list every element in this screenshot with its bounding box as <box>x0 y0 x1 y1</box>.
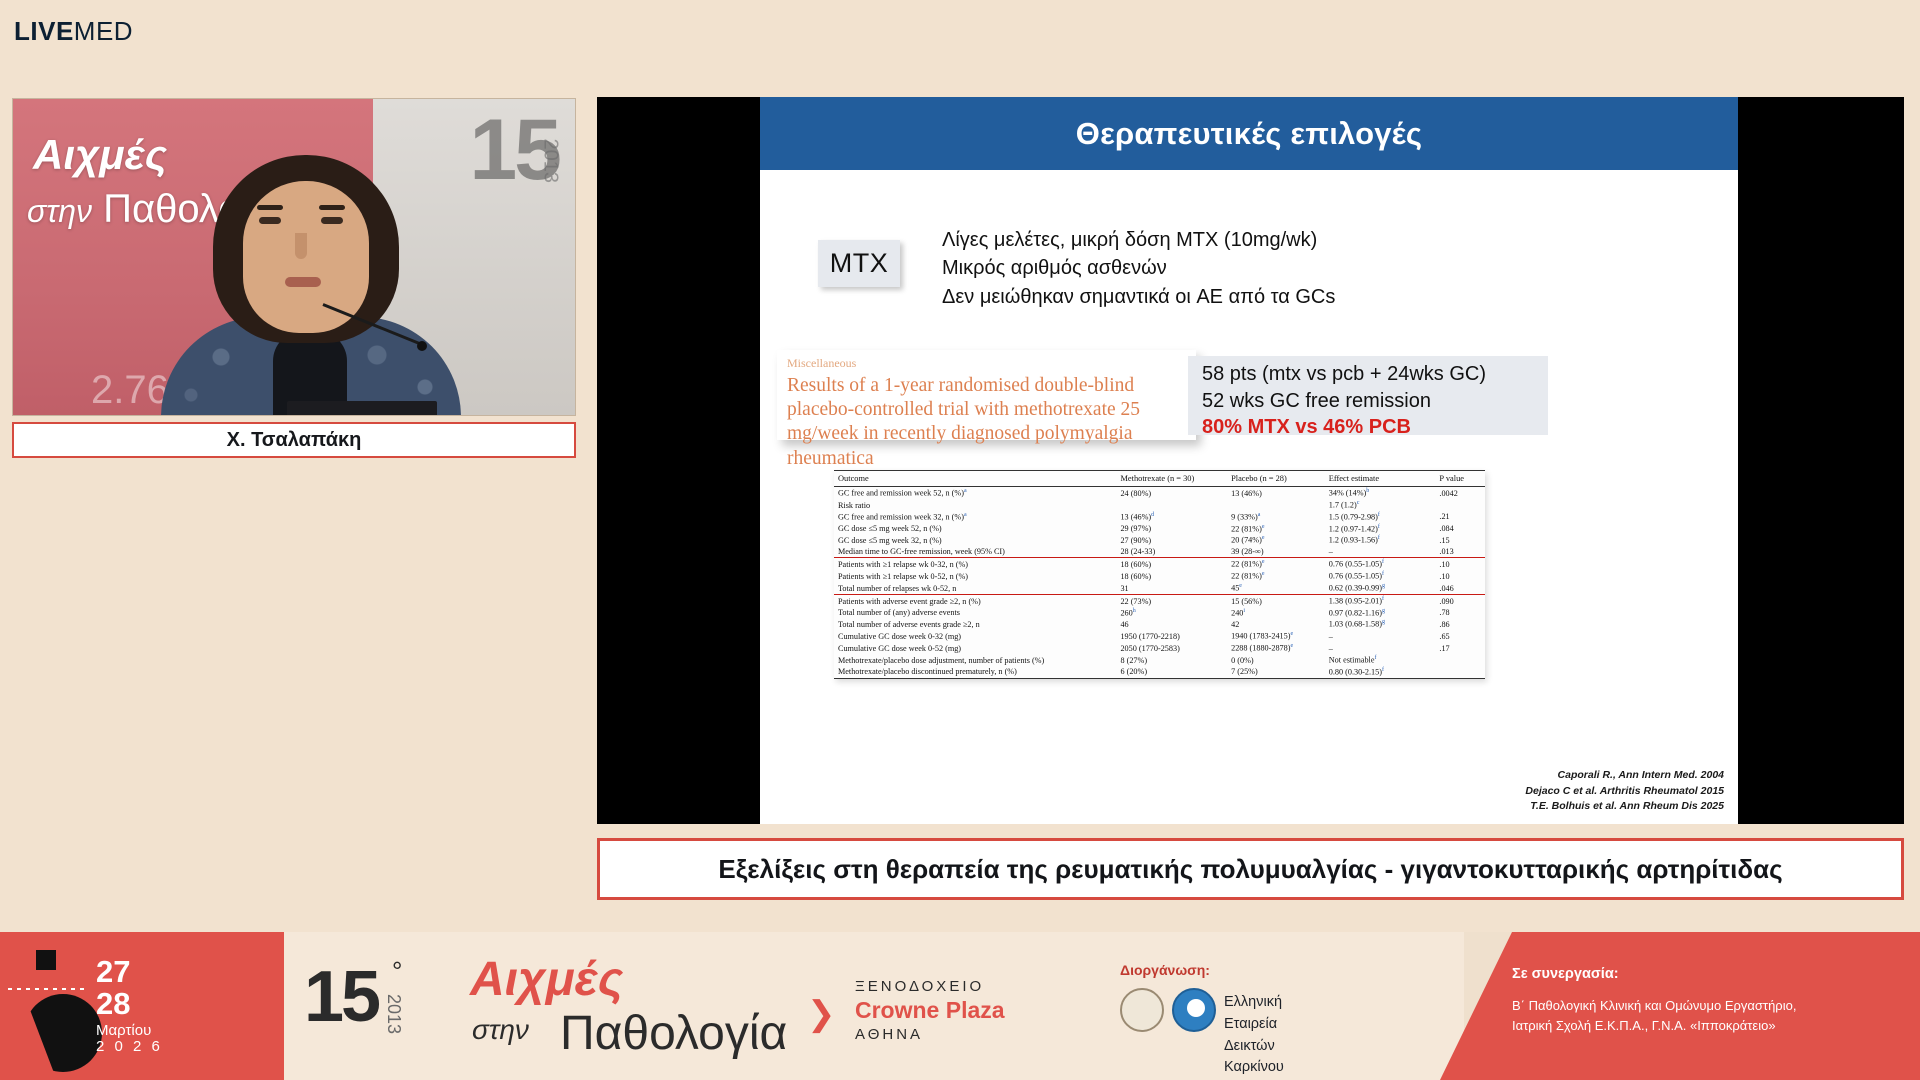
footnote-marker: e <box>1262 535 1265 541</box>
livemed-logo: LIVEMED <box>14 16 133 47</box>
slide-title: Θεραπευτικές επιλογές <box>1076 116 1422 152</box>
table-row: GC free and remission week 52, n (%)a24 … <box>834 487 1485 499</box>
table-row: Methotrexate/placebo dose adjustment, nu… <box>834 654 1485 666</box>
speaker-eye-right <box>321 217 343 224</box>
table-cell: 0.76 (0.55-1.05)f <box>1329 558 1440 570</box>
edition-degree-symbol: ° <box>392 956 402 987</box>
table-cell: 2288 (1880-2878)e <box>1231 642 1329 654</box>
video-overlay-title-1: Αιχμές <box>33 131 167 179</box>
footnote-marker: h <box>1133 608 1136 614</box>
table-row: GC dose ≤5 mg week 52, n (%)29 (97%)22 (… <box>834 522 1485 534</box>
table-cell <box>1439 654 1485 666</box>
citation-1: Caporali R., Ann Intern Med. 2004 <box>1525 768 1724 783</box>
edition-number: 15 <box>304 956 378 1038</box>
table-cell: 7 (25%) <box>1231 666 1329 678</box>
footnote-marker: f <box>1378 512 1380 518</box>
table-cell: 22 (81%)e <box>1231 558 1329 570</box>
organizer-block: Διοργάνωση: Ελληνική Εταιρεία Δεικτών Κα… <box>1120 962 1210 978</box>
table-cell: 31 <box>1120 582 1231 594</box>
footnote-marker: a <box>964 488 967 494</box>
footnote-marker: a <box>1258 512 1261 518</box>
mtx-chip-label: MTX <box>830 248 889 279</box>
footnote-marker: f <box>1382 559 1384 565</box>
table-cell: 15 (56%) <box>1231 594 1329 606</box>
footnote-marker: a <box>964 512 967 518</box>
footnote-marker: b <box>1366 488 1369 494</box>
footnote-marker: e <box>1239 583 1242 589</box>
table-row: Patients with ≥1 relapse wk 0-52, n (%)1… <box>834 570 1485 582</box>
footnote-marker: f <box>1382 667 1384 673</box>
organizer-text: Ελληνική Εταιρεία Δεικτών Καρκίνου & Στο… <box>1224 992 1305 1080</box>
venue-name: Crowne Plaza <box>855 997 1005 1024</box>
footnote-marker: e <box>1262 571 1265 577</box>
table-cell: – <box>1329 630 1440 642</box>
footnote-marker: f <box>1382 596 1384 602</box>
speaker-figure <box>161 155 461 416</box>
cooperation-line-2: Ιατρική Σχολή Ε.Κ.Π.Α., Γ.Ν.Α. «Ιπποκράτ… <box>1512 1016 1892 1036</box>
chevron-right-icon: ❯ <box>807 994 836 1034</box>
table-cell: Methotrexate/placebo discontinued premat… <box>834 666 1120 678</box>
table-row: Total number of relapses wk 0-52, n3145e… <box>834 582 1485 594</box>
table-cell: Patients with ≥1 relapse wk 0-52, n (%) <box>834 570 1120 582</box>
journal-excerpt-card: Miscellaneous Results of a 1-year random… <box>777 350 1196 440</box>
table-row: Patients with adverse event grade ≥2, n … <box>834 594 1485 606</box>
venue-city: ΑΘΗΝΑ <box>855 1026 1005 1043</box>
table-cell: .78 <box>1439 607 1485 619</box>
logo-live: LIVE <box>14 16 74 46</box>
table-row: Risk ratio1.7 (1.2)c <box>834 499 1485 511</box>
speaker-brow-left <box>257 205 283 210</box>
video-overlay-title-2-italic: στην <box>27 193 92 229</box>
table-cell: .013 <box>1439 546 1485 558</box>
table-cell: .046 <box>1439 582 1485 594</box>
table-cell: 1.2 (0.93-1.56)f <box>1329 534 1440 546</box>
organizer-line-1: Ελληνική Εταιρεία Δεικτών Καρκίνου <box>1224 992 1305 1079</box>
table-cell: Median time to GC-free remission, week (… <box>834 546 1120 558</box>
table-cell: 42 <box>1231 618 1329 630</box>
table-cell: Total number of (any) adverse events <box>834 607 1120 619</box>
cooperation-line-1: Β΄ Παθολογική Κλινική και Ομώνυμο Εργαστ… <box>1512 996 1892 1016</box>
speaker-eye-left <box>259 217 281 224</box>
footnote-marker: g <box>1382 583 1385 589</box>
table-cell: GC free and remission week 32, n (%)a <box>834 511 1120 523</box>
session-title-banner: Εξελίξεις στη θεραπεία της ρευματικής πο… <box>597 838 1904 900</box>
cooperation-block: Σε συνεργασία: Β΄ Παθολογική Κλινική και… <box>1512 966 1892 1036</box>
table-cell: 6 (20%) <box>1120 666 1231 678</box>
results-line-1: 58 pts (mtx vs pcb + 24wks GC) <box>1202 361 1534 388</box>
bullet-list: Λίγες μελέτες, μικρή δόση MTX (10mg/wk) … <box>942 226 1642 311</box>
table-cell: Cumulative GC dose week 0-52 (mg) <box>834 642 1120 654</box>
table-body: GC free and remission week 52, n (%)a24 … <box>834 487 1485 679</box>
column-header-methotrexate: Methotrexate (n = 30) <box>1120 471 1231 487</box>
speaker-video[interactable]: 15 2013 Αιχμές στην Παθολο 2.76 <box>12 98 576 416</box>
table-cell: 240i <box>1231 607 1329 619</box>
table-cell: 34% (14%)b <box>1329 487 1440 499</box>
mtx-chip: MTX <box>818 240 900 287</box>
results-line-2: 52 wks GC free remission <box>1202 388 1534 415</box>
session-title: Εξελίξεις στη θεραπεία της ρευματικής πο… <box>718 854 1782 885</box>
event-year: 2 0 2 6 <box>96 1039 163 1054</box>
table-cell: .10 <box>1439 570 1485 582</box>
table-cell: 13 (46%)d <box>1120 511 1231 523</box>
table-header-row: Outcome Methotrexate (n = 30) Placebo (n… <box>834 471 1485 487</box>
table-cell: 45e <box>1231 582 1329 594</box>
table-cell: .0042 <box>1439 487 1485 499</box>
bullet-item-2: Μικρός αριθμός ασθενών <box>942 254 1642 282</box>
table-row: GC free and remission week 32, n (%)a13 … <box>834 511 1485 523</box>
footnote-marker: g <box>1382 619 1385 625</box>
table-cell: 0.80 (0.30-2.15)f <box>1329 666 1440 678</box>
brand-line-2-italic: στην <box>472 1014 529 1046</box>
table-cell: 18 (60%) <box>1120 558 1231 570</box>
trial-results-table: Outcome Methotrexate (n = 30) Placebo (n… <box>834 470 1485 679</box>
speaker-panel: 15 2013 Αιχμές στην Παθολο 2.76 <box>12 98 576 458</box>
table-cell <box>1120 499 1231 511</box>
citation-3: T.E. Bolhuis et al. Ann Rheum Dis 2025 <box>1525 799 1724 814</box>
table-cell: GC free and remission week 52, n (%)a <box>834 487 1120 499</box>
footer-square-motif <box>36 950 56 970</box>
table-cell: 1.38 (0.95-2.01)f <box>1329 594 1440 606</box>
table-cell: 1.2 (0.97-1.42)f <box>1329 522 1440 534</box>
table-cell: 8 (27%) <box>1120 654 1231 666</box>
footnote-marker: f <box>1378 524 1380 530</box>
society-logo-icon <box>1172 988 1216 1032</box>
journal-section-label: Miscellaneous <box>787 356 1186 371</box>
table-cell: .65 <box>1439 630 1485 642</box>
results-summary-panel: 58 pts (mtx vs pcb + 24wks GC) 52 wks GC… <box>1188 356 1548 435</box>
table-row: Methotrexate/placebo discontinued premat… <box>834 666 1485 678</box>
microphone-head-icon <box>417 341 427 351</box>
footnote-marker: e <box>1290 643 1293 649</box>
table-cell: 28 (24-33) <box>1120 546 1231 558</box>
table-cell: 29 (97%) <box>1120 522 1231 534</box>
table-cell: 0.62 (0.39-0.99)g <box>1329 582 1440 594</box>
journal-article-title: Results of a 1-year randomised double-bl… <box>787 374 1186 471</box>
speaker-name-bar: Χ. Τσαλαπάκη <box>12 422 576 458</box>
table-cell: 20 (74%)e <box>1231 534 1329 546</box>
footer-dotted-line <box>8 988 88 990</box>
video-watermark: 2.76 <box>91 368 169 413</box>
slide-body: MTX Λίγες μελέτες, μικρή δόση MTX (10mg/… <box>760 170 1738 824</box>
laptop-icon <box>287 401 437 416</box>
footnote-marker: f <box>1382 571 1384 577</box>
event-month: Μαρτίου <box>96 1023 163 1038</box>
table-row: Patients with ≥1 relapse wk 0-32, n (%)1… <box>834 558 1485 570</box>
footnote-marker: f <box>1374 655 1376 661</box>
table-cell: 0 (0%) <box>1231 654 1329 666</box>
presentation-slide: Θεραπευτικές επιλογές MTX Λίγες μελέτες,… <box>760 97 1738 824</box>
table-cell: 2050 (1770-2583) <box>1120 642 1231 654</box>
table-cell: .17 <box>1439 642 1485 654</box>
table-cell: 39 (28-∞) <box>1231 546 1329 558</box>
footnote-marker: e <box>1290 631 1293 637</box>
table-cell: 1950 (1770-2218) <box>1120 630 1231 642</box>
venue-block: ❯ ΞΕΝΟΔΟΧΕΙΟ Crowne Plaza ΑΘΗΝΑ <box>855 978 1005 1043</box>
table-row: GC dose ≤5 mg week 32, n (%)27 (90%)20 (… <box>834 534 1485 546</box>
table-cell: .15 <box>1439 534 1485 546</box>
table-row: Cumulative GC dose week 0-52 (mg)2050 (1… <box>834 642 1485 654</box>
table-cell: 0.76 (0.55-1.05)f <box>1329 570 1440 582</box>
event-day-2: 28 <box>96 988 163 1020</box>
bullet-item-1: Λίγες μελέτες, μικρή δόση MTX (10mg/wk) <box>942 226 1642 254</box>
footnote-marker: c <box>1357 500 1360 506</box>
speaker-name: Χ. Τσαλαπάκη <box>227 429 362 452</box>
table-row: Total number of (any) adverse events260h… <box>834 607 1485 619</box>
table-head: Outcome Methotrexate (n = 30) Placebo (n… <box>834 471 1485 487</box>
table-cell <box>1439 499 1485 511</box>
table-cell: Total number of adverse events grade ≥2,… <box>834 618 1120 630</box>
bullet-item-3: Δεν μειώθηκαν σημαντικά οι AE από τα GCs <box>942 283 1642 311</box>
table-cell: 1.7 (1.2)c <box>1329 499 1440 511</box>
table-cell <box>1439 666 1485 678</box>
table-cell: 1.03 (0.68-1.58)g <box>1329 618 1440 630</box>
table-cell: 18 (60%) <box>1120 570 1231 582</box>
table-cell: Not estimablef <box>1329 654 1440 666</box>
table-cell: Total number of relapses wk 0-52, n <box>834 582 1120 594</box>
slide-header: Θεραπευτικές επιλογές <box>760 97 1738 170</box>
organizer-seals <box>1120 988 1216 1032</box>
table-cell: 27 (90%) <box>1120 534 1231 546</box>
video-badge-year: 2013 <box>538 139 561 184</box>
table-cell: GC dose ≤5 mg week 52, n (%) <box>834 522 1120 534</box>
cooperation-label: Σε συνεργασία: <box>1512 966 1892 982</box>
table-cell: Patients with adverse event grade ≥2, n … <box>834 594 1120 606</box>
table-cell: 9 (33%)a <box>1231 511 1329 523</box>
table-cell <box>1231 499 1329 511</box>
organizer-label: Διοργάνωση: <box>1120 962 1210 978</box>
table-cell: 24 (80%) <box>1120 487 1231 499</box>
citation-2: Dejaco C et al. Arthritis Rheumatol 2015 <box>1525 784 1724 799</box>
table-cell: 260h <box>1120 607 1231 619</box>
outcomes-table: Outcome Methotrexate (n = 30) Placebo (n… <box>834 470 1485 679</box>
table-cell: .86 <box>1439 618 1485 630</box>
table-cell: Cumulative GC dose week 0-32 (mg) <box>834 630 1120 642</box>
event-day-1: 27 <box>96 956 163 988</box>
slide-viewport[interactable]: Θεραπευτικές επιλογές MTX Λίγες μελέτες,… <box>597 97 1904 824</box>
table-cell: .084 <box>1439 522 1485 534</box>
table-cell: 46 <box>1120 618 1231 630</box>
footnote-marker: d <box>1151 512 1154 518</box>
table-cell: .10 <box>1439 558 1485 570</box>
brand-line-1: Αιχμές <box>470 952 623 1007</box>
table-cell: 22 (81%)e <box>1231 522 1329 534</box>
table-row: Total number of adverse events grade ≥2,… <box>834 618 1485 630</box>
column-header-p-value: P value <box>1439 471 1485 487</box>
speaker-face <box>243 181 369 333</box>
table-row: Median time to GC-free remission, week (… <box>834 546 1485 558</box>
table-cell: Patients with ≥1 relapse wk 0-32, n (%) <box>834 558 1120 570</box>
footnote-marker: f <box>1378 535 1380 541</box>
footnote-marker: i <box>1243 608 1245 614</box>
table-cell: Methotrexate/placebo dose adjustment, nu… <box>834 654 1120 666</box>
table-cell: 0.97 (0.82-1.16)g <box>1329 607 1440 619</box>
event-dates: 27 28 Μαρτίου 2 0 2 6 <box>96 956 163 1054</box>
results-highlight: 80% MTX vs 46% PCB <box>1202 414 1534 441</box>
speaker-nose <box>295 233 307 259</box>
table-cell: – <box>1329 642 1440 654</box>
society-seal-icon <box>1120 988 1164 1032</box>
column-header-outcome: Outcome <box>834 471 1120 487</box>
footnote-marker: g <box>1382 608 1385 614</box>
brand-line-2: Παθολογία <box>560 1006 787 1061</box>
conference-footer: 27 28 Μαρτίου 2 0 2 6 15 ° 2013 Αιχμές σ… <box>0 932 1920 1080</box>
webinar-viewer: LIVEMED 15 2013 Αιχμές στην Παθολο 2.76 <box>0 0 1920 1080</box>
table-cell: .090 <box>1439 594 1485 606</box>
column-header-effect-estimate: Effect estimate <box>1329 471 1440 487</box>
footnote-marker: e <box>1262 559 1265 565</box>
cooperation-text: Β΄ Παθολογική Κλινική και Ομώνυμο Εργαστ… <box>1512 996 1892 1036</box>
table-cell: 13 (46%) <box>1231 487 1329 499</box>
table-cell: 1940 (1783-2415)e <box>1231 630 1329 642</box>
table-cell: 1.5 (0.79-2.98)f <box>1329 511 1440 523</box>
footnote-marker: e <box>1262 524 1265 530</box>
table-row: Cumulative GC dose week 0-32 (mg)1950 (1… <box>834 630 1485 642</box>
since-year: 2013 <box>383 994 404 1034</box>
table-cell: GC dose ≤5 mg week 32, n (%) <box>834 534 1120 546</box>
column-header-placebo: Placebo (n = 28) <box>1231 471 1329 487</box>
table-cell: .21 <box>1439 511 1485 523</box>
speaker-brow-right <box>319 205 345 210</box>
table-cell: – <box>1329 546 1440 558</box>
table-cell: 22 (81%)e <box>1231 570 1329 582</box>
citation-list: Caporali R., Ann Intern Med. 2004 Dejaco… <box>1525 768 1724 814</box>
table-cell: 22 (73%) <box>1120 594 1231 606</box>
venue-label: ΞΕΝΟΔΟΧΕΙΟ <box>855 978 1005 995</box>
speaker-mouth <box>285 277 321 287</box>
table-cell: Risk ratio <box>834 499 1120 511</box>
logo-med: MED <box>74 16 133 46</box>
